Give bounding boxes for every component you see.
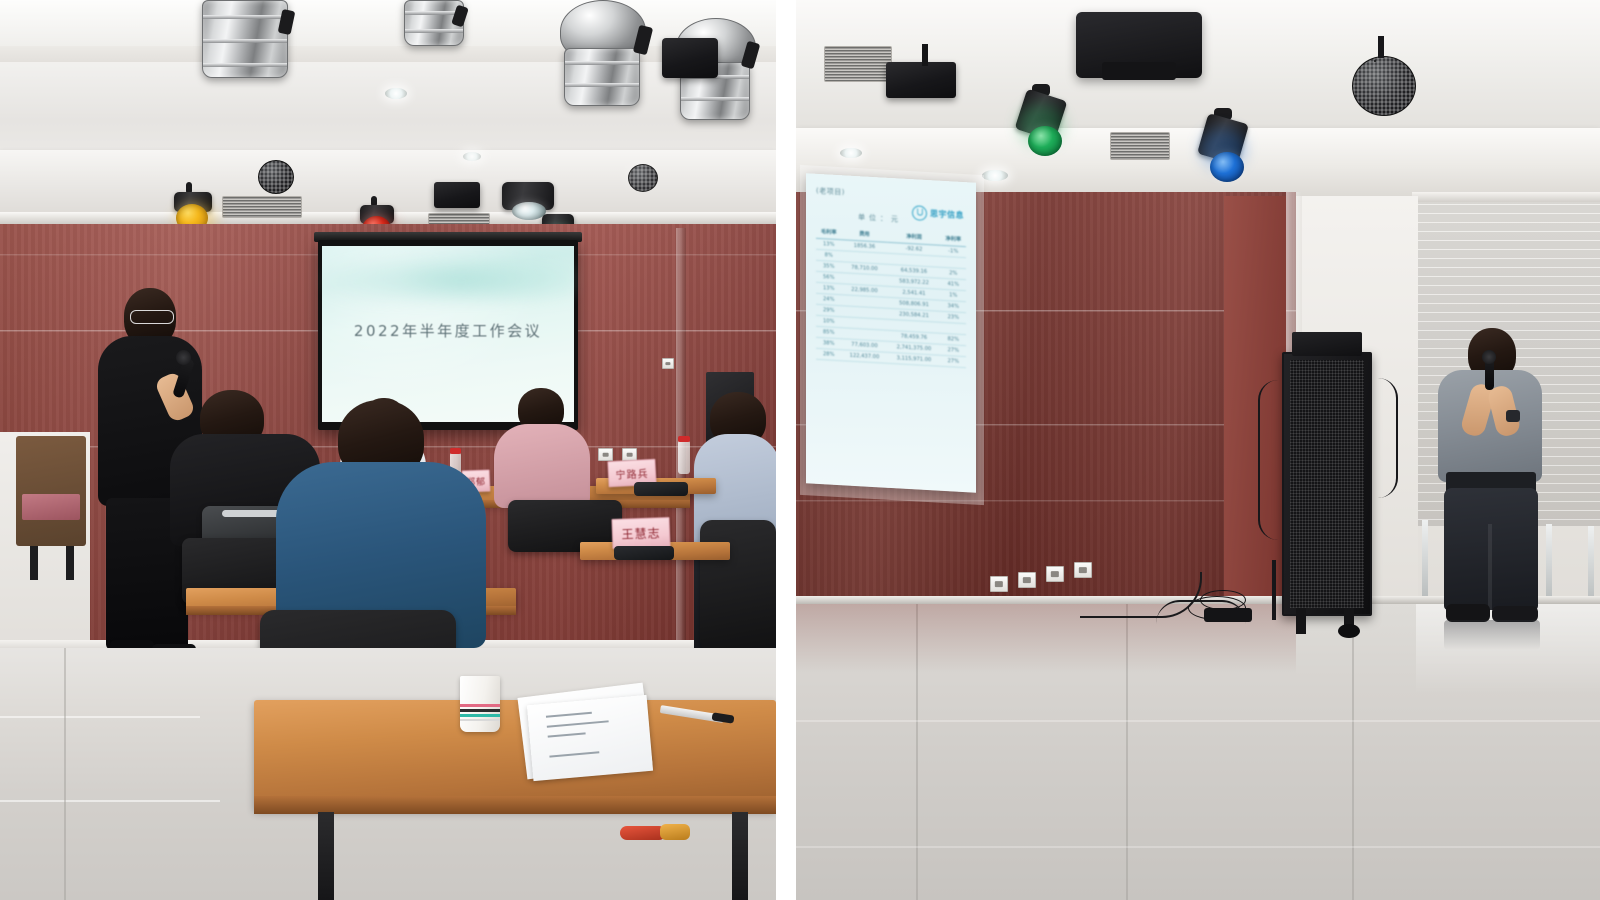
cart-leg	[66, 546, 74, 580]
fixture-base	[1102, 62, 1176, 80]
slide-canvas-right: (老项目) 单位：元 思宇信息 毛利率费用净利润净利率 13%1856.36-9…	[812, 182, 970, 483]
logo-text: 思宇信息	[930, 208, 964, 221]
slide-unit-label: 单位：元	[858, 212, 902, 224]
person-reflection	[1444, 620, 1540, 650]
chrome-pendant-light	[196, 0, 292, 86]
downlight-icon	[840, 148, 862, 158]
slide-tag: (老项目)	[816, 186, 845, 198]
air-vent	[222, 196, 302, 218]
cart-item	[22, 494, 80, 520]
table-cell: 3,115,971.00	[887, 352, 940, 366]
wall-seam	[796, 500, 1296, 502]
tile-seam	[796, 720, 1600, 722]
torso	[494, 424, 590, 508]
microphone-head	[1482, 350, 1496, 364]
wall-socket	[990, 576, 1008, 592]
cart-leg	[30, 546, 38, 580]
mirror-ball	[1352, 56, 1416, 116]
wall-socket	[662, 358, 674, 369]
mirror-ball	[258, 160, 294, 194]
tile-seam	[796, 846, 1600, 848]
downlight-icon	[385, 88, 407, 99]
wall-socket	[1018, 572, 1036, 588]
glasses-icon	[130, 310, 174, 324]
photo-panel-right: (老项目) 单位：元 思宇信息 毛利率费用净利润净利率 13%1856.36-9…	[796, 0, 1600, 900]
wall-socket	[1046, 566, 1064, 582]
microphone-head	[176, 350, 191, 365]
rack-top-shelf	[1292, 332, 1362, 356]
ceiling-projector	[662, 38, 718, 78]
slide-watercolor-wash	[322, 254, 574, 302]
financial-table: 毛利率费用净利润净利率 13%1856.36-92.62-1%8%35%78,7…	[816, 226, 966, 368]
mirror-ball	[628, 164, 658, 192]
nameplate: 王慧志	[611, 517, 670, 549]
table-cell: 28%	[816, 348, 841, 360]
presenter-gray-shirt	[1430, 328, 1552, 628]
projection-screen-right: (老项目) 单位：元 思宇信息 毛利率费用净利润净利率 13%1856.36-9…	[806, 173, 976, 493]
rack-leg	[1296, 608, 1306, 634]
two-panel-photo-composite: 2022年半年度工作会议 郑郁	[0, 0, 1600, 900]
slide-title: 2022年半年度工作会议	[322, 320, 574, 341]
attendee-blue-shirt	[276, 400, 486, 640]
air-vent	[1110, 132, 1170, 160]
tile-seam	[0, 716, 200, 718]
tile-seam	[1352, 604, 1354, 900]
downlight-icon	[463, 152, 481, 161]
downlight-icon	[982, 170, 1008, 181]
par-light-green	[1014, 84, 1070, 160]
bottle-cap	[678, 436, 690, 442]
paper-cup	[460, 676, 500, 732]
panel-divider	[776, 0, 796, 900]
logo-mark-icon	[912, 205, 927, 221]
trouser-crease	[1488, 524, 1492, 610]
side-cabinet	[16, 436, 86, 546]
company-logo: 思宇信息	[912, 205, 964, 223]
table-cell: 122,437.00	[841, 350, 887, 364]
wall-socket	[598, 448, 613, 461]
air-vent	[824, 46, 892, 82]
table-leg	[732, 812, 748, 900]
projector-mount	[922, 44, 928, 66]
handwritten-papers	[527, 695, 653, 781]
tile-seam	[64, 648, 66, 900]
wristwatch	[1506, 410, 1520, 422]
table-cell: 27%	[941, 355, 966, 367]
floor-object	[660, 824, 690, 840]
ball-mount	[1378, 36, 1384, 58]
photo-panel-left: 2022年半年度工作会议 郑郁	[0, 0, 776, 900]
rack-mesh-panel	[1290, 360, 1364, 608]
water-bottle	[678, 440, 690, 474]
power-adapter	[1204, 608, 1252, 622]
ceiling-projector	[434, 182, 480, 208]
rail-post	[1422, 520, 1428, 598]
par-light-blue	[1196, 108, 1252, 186]
power-cable	[1272, 560, 1276, 620]
rack-cable	[1258, 380, 1296, 540]
chrome-pendant-light	[404, 0, 468, 50]
table-leg	[318, 812, 334, 900]
decor	[1374, 60, 1376, 62]
blinds-header	[1412, 192, 1600, 202]
chair	[700, 520, 776, 652]
coiled-cable	[1200, 590, 1246, 610]
notebook	[614, 546, 674, 560]
chrome-pendant-light	[556, 0, 666, 110]
rack-cable	[1364, 378, 1398, 498]
notebook	[634, 482, 688, 496]
rack-caster	[1338, 624, 1360, 638]
attendee-pink-shirt	[494, 388, 590, 506]
rail-post	[1588, 526, 1594, 604]
ceiling-projector	[886, 62, 956, 98]
tile-seam	[0, 800, 220, 802]
